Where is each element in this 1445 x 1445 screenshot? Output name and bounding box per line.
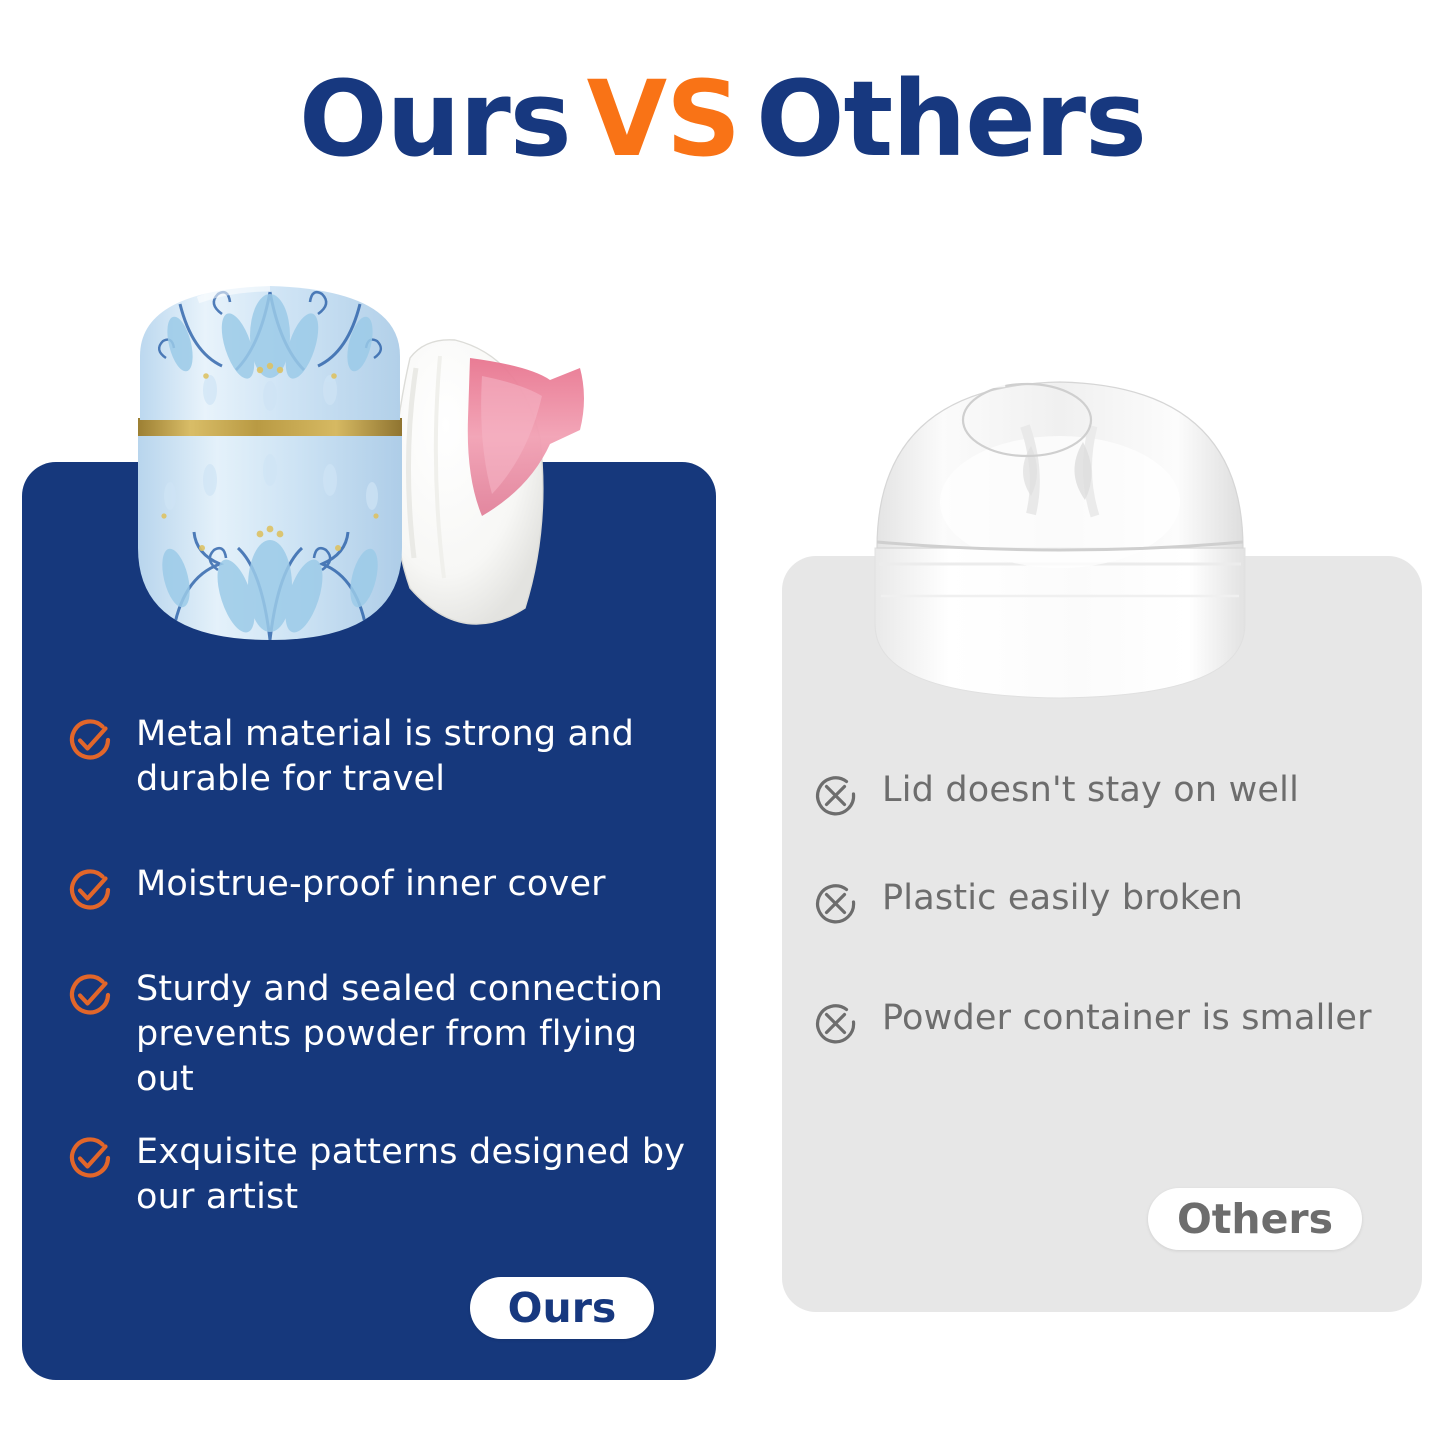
list-item-label: Moistrue-proof inner cover xyxy=(136,862,606,907)
list-item-label: Exquisite patterns designed by our artis… xyxy=(136,1130,685,1220)
others-product-image xyxy=(845,352,1275,732)
list-item: Plastic easily broken xyxy=(810,876,1410,934)
list-item: Moistrue-proof inner cover xyxy=(64,862,684,920)
ours-product-image xyxy=(110,248,710,658)
ours-badge: Ours xyxy=(470,1277,654,1339)
list-item: Powder container is smaller xyxy=(810,996,1430,1054)
x-circle-icon xyxy=(810,770,862,826)
check-circle-icon xyxy=(64,969,116,1025)
title-others: Others xyxy=(756,62,1146,176)
gold-band xyxy=(138,418,402,436)
list-item: Exquisite patterns designed by our artis… xyxy=(64,1130,704,1220)
title-ours: Ours xyxy=(299,62,571,176)
ours-badge-label: Ours xyxy=(508,1284,617,1332)
check-circle-icon xyxy=(64,1132,116,1188)
page-title: OursVSOthers xyxy=(0,62,1445,176)
powder-puff xyxy=(394,340,584,624)
tin-base xyxy=(138,434,402,640)
list-item: Metal material is strong and durable for… xyxy=(64,712,684,802)
list-item: Lid doesn't stay on well xyxy=(810,768,1410,826)
check-circle-icon xyxy=(64,864,116,920)
list-item-label: Sturdy and sealed connection prevents po… xyxy=(136,967,704,1102)
infographic-root: OursVSOthers Metal material is strong an… xyxy=(0,0,1445,1445)
container-base xyxy=(875,548,1245,698)
list-item-label: Lid doesn't stay on well xyxy=(882,768,1299,813)
x-circle-icon xyxy=(810,998,862,1054)
others-badge-label: Others xyxy=(1177,1195,1333,1243)
title-vs: VS xyxy=(587,62,740,176)
x-circle-icon xyxy=(810,878,862,934)
list-item-label: Powder container is smaller xyxy=(882,996,1372,1041)
list-item-label: Metal material is strong and durable for… xyxy=(136,712,634,802)
others-badge: Others xyxy=(1148,1188,1362,1250)
list-item-label: Plastic easily broken xyxy=(882,876,1243,921)
list-item: Sturdy and sealed connection prevents po… xyxy=(64,967,704,1102)
tin-lid xyxy=(140,286,400,420)
check-circle-icon xyxy=(64,714,116,770)
